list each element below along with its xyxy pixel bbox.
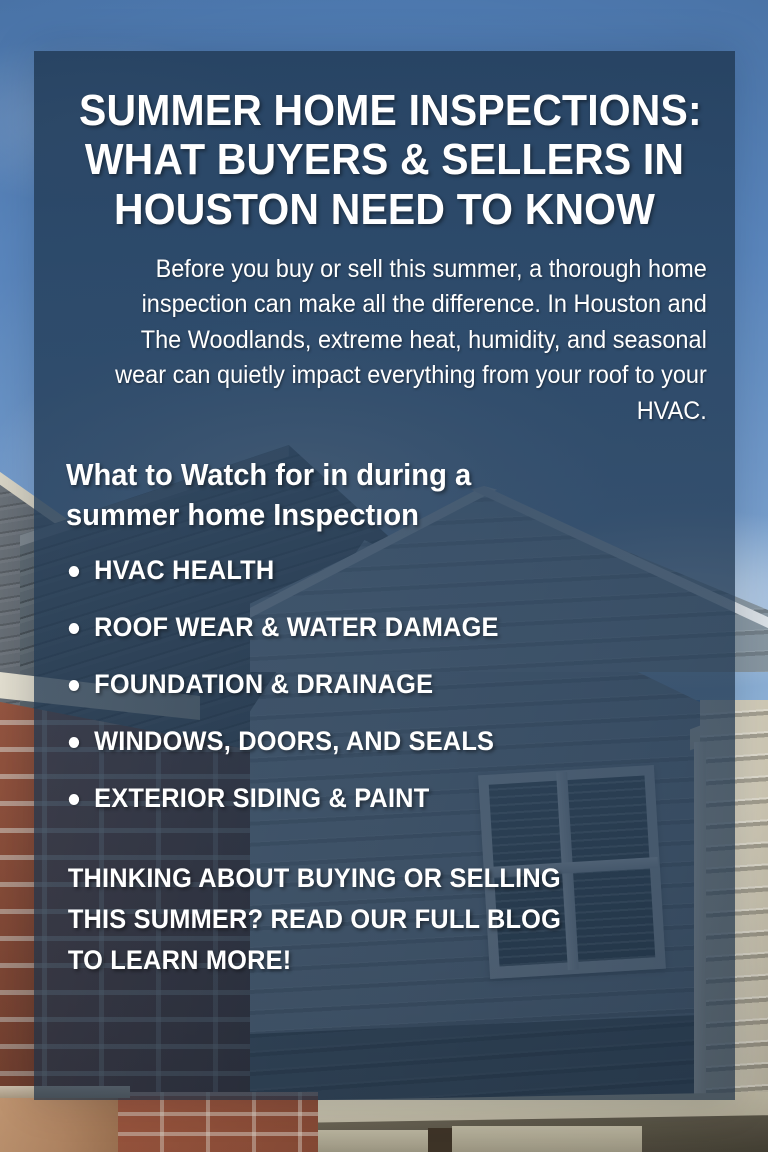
checklist-item-label: EXTERIOR SIDING & PAINT bbox=[94, 783, 429, 813]
checklist-item-label: WINDOWS, DOORS, AND SEALS bbox=[94, 726, 494, 756]
list-item: FOUNDATION & DRAINAGE bbox=[68, 671, 693, 698]
intro-paragraph: Before you buy or sell this summer, a th… bbox=[76, 234, 735, 430]
checklist-item-label: HVAC HEALTH bbox=[94, 555, 274, 585]
checklist: HVAC HEALTH ROOF WEAR & WATER DAMAGE FOU… bbox=[34, 535, 693, 812]
headline-line-1: SUMMER HOME INSPECTIONS: bbox=[79, 86, 690, 135]
list-item: WINDOWS, DOORS, AND SEALS bbox=[68, 728, 693, 755]
call-to-action: THINKING ABOUT BUYING OR SELLING THIS SU… bbox=[34, 842, 693, 981]
garage-door-gap bbox=[428, 1128, 452, 1152]
headline-line-3: HOUSTON NEED TO KNOW bbox=[79, 185, 690, 234]
subheading-line-1: What to Watch for in during a bbox=[66, 455, 655, 495]
poster-content: SUMMER HOME INSPECTIONS: WHAT BUYERS & S… bbox=[34, 51, 735, 1100]
brick-lower-course bbox=[118, 1092, 318, 1152]
poster-canvas: SUMMER HOME INSPECTIONS: WHAT BUYERS & S… bbox=[0, 0, 768, 1152]
cta-line-2: THIS SUMMER? READ OUR FULL BLOG bbox=[68, 899, 656, 940]
garage-door-right bbox=[452, 1126, 642, 1152]
checklist-item-label: FOUNDATION & DRAINAGE bbox=[94, 669, 433, 699]
list-item: ROOF WEAR & WATER DAMAGE bbox=[68, 614, 693, 641]
subheading-line-2: summer home Inspectıon bbox=[66, 495, 655, 535]
checklist-subheading: What to Watch for in during a summer hom… bbox=[34, 429, 693, 534]
headline-line-2: WHAT BUYERS & SELLERS IN bbox=[79, 135, 690, 184]
list-item: EXTERIOR SIDING & PAINT bbox=[68, 785, 693, 812]
page-title: SUMMER HOME INSPECTIONS: WHAT BUYERS & S… bbox=[59, 51, 711, 234]
cta-line-3: TO LEARN MORE! bbox=[68, 940, 656, 981]
cta-line-1: THINKING ABOUT BUYING OR SELLING bbox=[68, 858, 656, 899]
checklist-item-label: ROOF WEAR & WATER DAMAGE bbox=[94, 612, 498, 642]
list-item: HVAC HEALTH bbox=[68, 557, 693, 584]
